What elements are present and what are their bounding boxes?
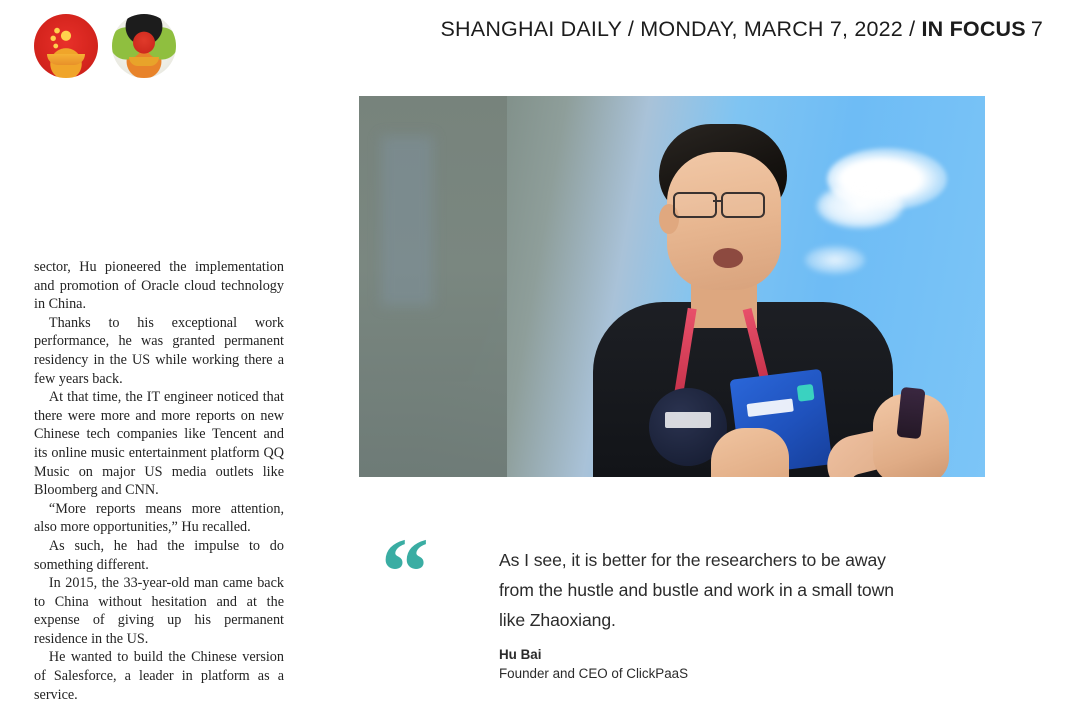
speaker-face: [667, 152, 781, 290]
article-paragraph: He wanted to build the Chinese version o…: [34, 648, 284, 704]
pullquote-attribution: Hu Bai Founder and CEO of ClickPaaS: [499, 645, 919, 683]
article-paragraph: “More reports means more attention, also…: [34, 500, 284, 537]
article-paragraph: In 2015, the 33-year-old man came back t…: [34, 574, 284, 648]
page-masthead: SHANGHAI DAILY / MONDAY, MARCH 7, 2022 /…: [0, 0, 1079, 96]
quote-mark-icon: “: [381, 533, 429, 611]
speaker-hand-holding-microphone: [711, 428, 789, 477]
emblem-group: [34, 14, 176, 78]
section-name: IN FOCUS: [922, 17, 1026, 41]
photo-stage-wall: [359, 96, 507, 477]
article-body-column: sector, Hu pioneered the implementation …: [34, 258, 284, 704]
article-paragraph: Thanks to his exceptional work performan…: [34, 314, 284, 388]
attribution-name: Hu Bai: [499, 645, 919, 664]
article-photo: [359, 96, 985, 477]
publication-name: SHANGHAI DAILY: [441, 17, 622, 41]
speaker-mouth: [713, 248, 743, 268]
speaker-glasses-left-lens: [673, 192, 717, 218]
header-separator-2: /: [903, 17, 922, 41]
speaker-glasses-bridge: [713, 200, 723, 202]
issue-date: MONDAY, MARCH 7, 2022: [640, 17, 903, 41]
article-paragraph: sector, Hu pioneered the implementation …: [34, 258, 284, 314]
attribution-role: Founder and CEO of ClickPaaS: [499, 664, 919, 683]
photo-speaker-figure: [555, 96, 975, 477]
masthead-headline: SHANGHAI DAILY / MONDAY, MARCH 7, 2022 /…: [441, 17, 1043, 42]
header-separator-1: /: [622, 17, 641, 41]
cppcc-emblem-icon: [112, 14, 176, 78]
article-paragraph: As such, he had the impulse to do someth…: [34, 537, 284, 574]
pullquote-block: “ As I see, it is better for the researc…: [381, 533, 1001, 683]
pullquote-text: As I see, it is better for the researche…: [499, 545, 919, 635]
article-paragraph: At that time, the IT engineer noticed th…: [34, 388, 284, 500]
speaker-glasses-right-lens: [721, 192, 765, 218]
page-number: 7: [1031, 17, 1043, 41]
national-emblem-of-china-icon: [34, 14, 98, 78]
